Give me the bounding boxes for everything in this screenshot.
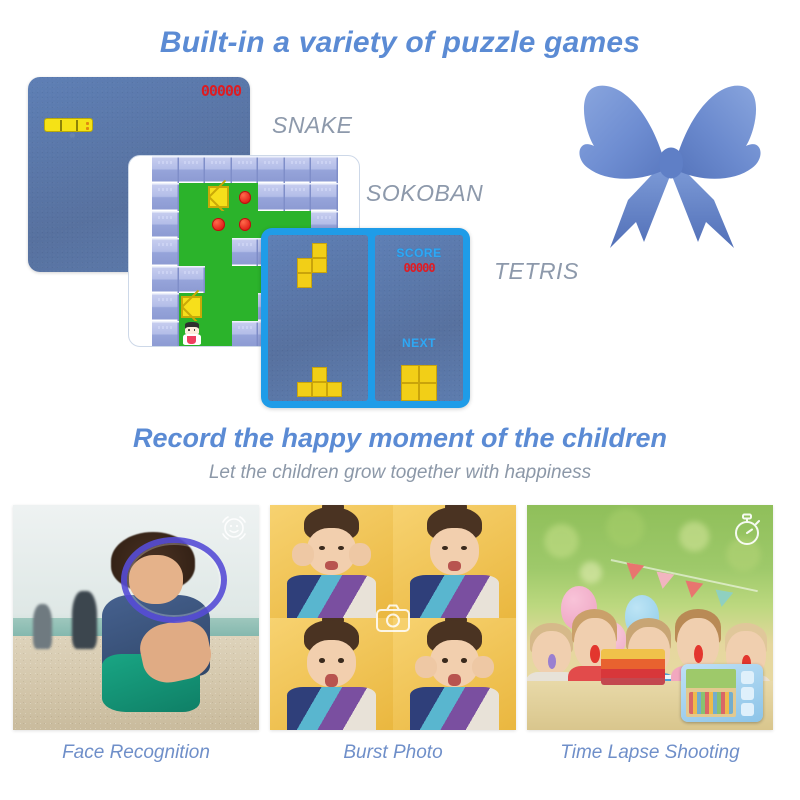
stopwatch-icon xyxy=(731,513,763,547)
tetris-next-piece xyxy=(401,365,437,401)
game-label-tetris: TETRIS xyxy=(494,258,579,285)
sokoban-cell-wall xyxy=(258,183,285,210)
snake-score-value: 00000 xyxy=(201,82,241,100)
blue-ribbon-bow-icon xyxy=(558,72,782,258)
sokoban-cell-floor xyxy=(232,266,259,293)
smiley-face-icon xyxy=(219,513,249,543)
photo-time-lapse xyxy=(527,505,773,730)
burst-frame xyxy=(393,505,516,618)
sokoban-cell-wall xyxy=(152,156,179,183)
mini-camera-overlay xyxy=(681,664,763,722)
tetris-info-panel: SCORE 00000 NEXT xyxy=(375,235,463,401)
sokoban-cell-target xyxy=(232,183,259,210)
promo-page: Built-in a variety of puzzle games 00000… xyxy=(0,0,800,800)
caption-time-lapse: Time Lapse Shooting xyxy=(527,742,773,764)
face-detection-ring xyxy=(121,537,226,623)
photo-burst xyxy=(270,505,516,730)
sokoban-cell-wall xyxy=(152,211,179,238)
sokoban-cell-wall xyxy=(285,156,312,183)
sokoban-target xyxy=(239,191,252,204)
page-title: Built-in a variety of puzzle games xyxy=(0,26,800,60)
game-label-sokoban: SOKOBAN xyxy=(366,180,483,207)
sokoban-cell-crate xyxy=(179,293,206,320)
tetris-score-value: 00000 xyxy=(375,261,463,275)
tetris-next-label: NEXT xyxy=(375,336,463,350)
sokoban-cell-target xyxy=(232,211,259,238)
burst-frame xyxy=(270,505,393,618)
sokoban-cell-wall xyxy=(232,156,259,183)
sokoban-cell-wall xyxy=(205,156,232,183)
sokoban-crate xyxy=(181,296,202,318)
section-subtitle: Let the children grow together with happ… xyxy=(0,462,800,484)
caption-burst-photo: Burst Photo xyxy=(270,742,516,764)
sokoban-cell-wall xyxy=(152,293,179,320)
sokoban-cell-floor xyxy=(232,293,259,320)
sokoban-cell-wall xyxy=(179,156,206,183)
sokoban-cell-floor xyxy=(205,321,232,347)
sokoban-cell-target xyxy=(205,211,232,238)
sokoban-cell-wall xyxy=(311,156,338,183)
section-title: Record the happy moment of the children xyxy=(0,423,800,454)
sokoban-cell-crate xyxy=(205,183,232,210)
sokoban-player xyxy=(181,322,203,347)
camera-icon xyxy=(376,604,410,632)
sokoban-cell-wall xyxy=(179,266,206,293)
photo-face-recognition xyxy=(13,505,259,730)
sokoban-cell-wall xyxy=(232,321,259,347)
sokoban-cell-floor xyxy=(205,293,232,320)
sokoban-cell-floor xyxy=(205,266,232,293)
sokoban-cell-wall xyxy=(232,238,259,265)
sokoban-cell-player xyxy=(179,321,206,347)
burst-frame xyxy=(270,618,393,731)
sokoban-cell-floor xyxy=(179,238,206,265)
game-label-snake: SNAKE xyxy=(272,112,352,139)
game-screen-tetris: SCORE 00000 NEXT xyxy=(261,228,470,408)
tetris-score-label: SCORE xyxy=(375,246,463,260)
sokoban-target xyxy=(212,218,225,231)
caption-face-recognition: Face Recognition xyxy=(13,742,259,764)
sokoban-cell-wall xyxy=(311,183,338,210)
sokoban-target xyxy=(239,218,252,231)
tetris-playfield xyxy=(268,235,368,401)
sokoban-cell-wall xyxy=(152,238,179,265)
sokoban-cell-wall xyxy=(152,321,179,347)
sokoban-cell-wall xyxy=(152,266,179,293)
sokoban-cell-floor xyxy=(205,238,232,265)
sokoban-cell-wall xyxy=(152,183,179,210)
snake-body xyxy=(44,118,93,132)
sokoban-cell-wall xyxy=(285,183,312,210)
sokoban-cell-wall xyxy=(258,156,285,183)
sokoban-cell-floor xyxy=(179,183,206,210)
sokoban-crate xyxy=(208,186,229,208)
sokoban-cell-floor xyxy=(179,211,206,238)
burst-frame xyxy=(393,618,516,731)
